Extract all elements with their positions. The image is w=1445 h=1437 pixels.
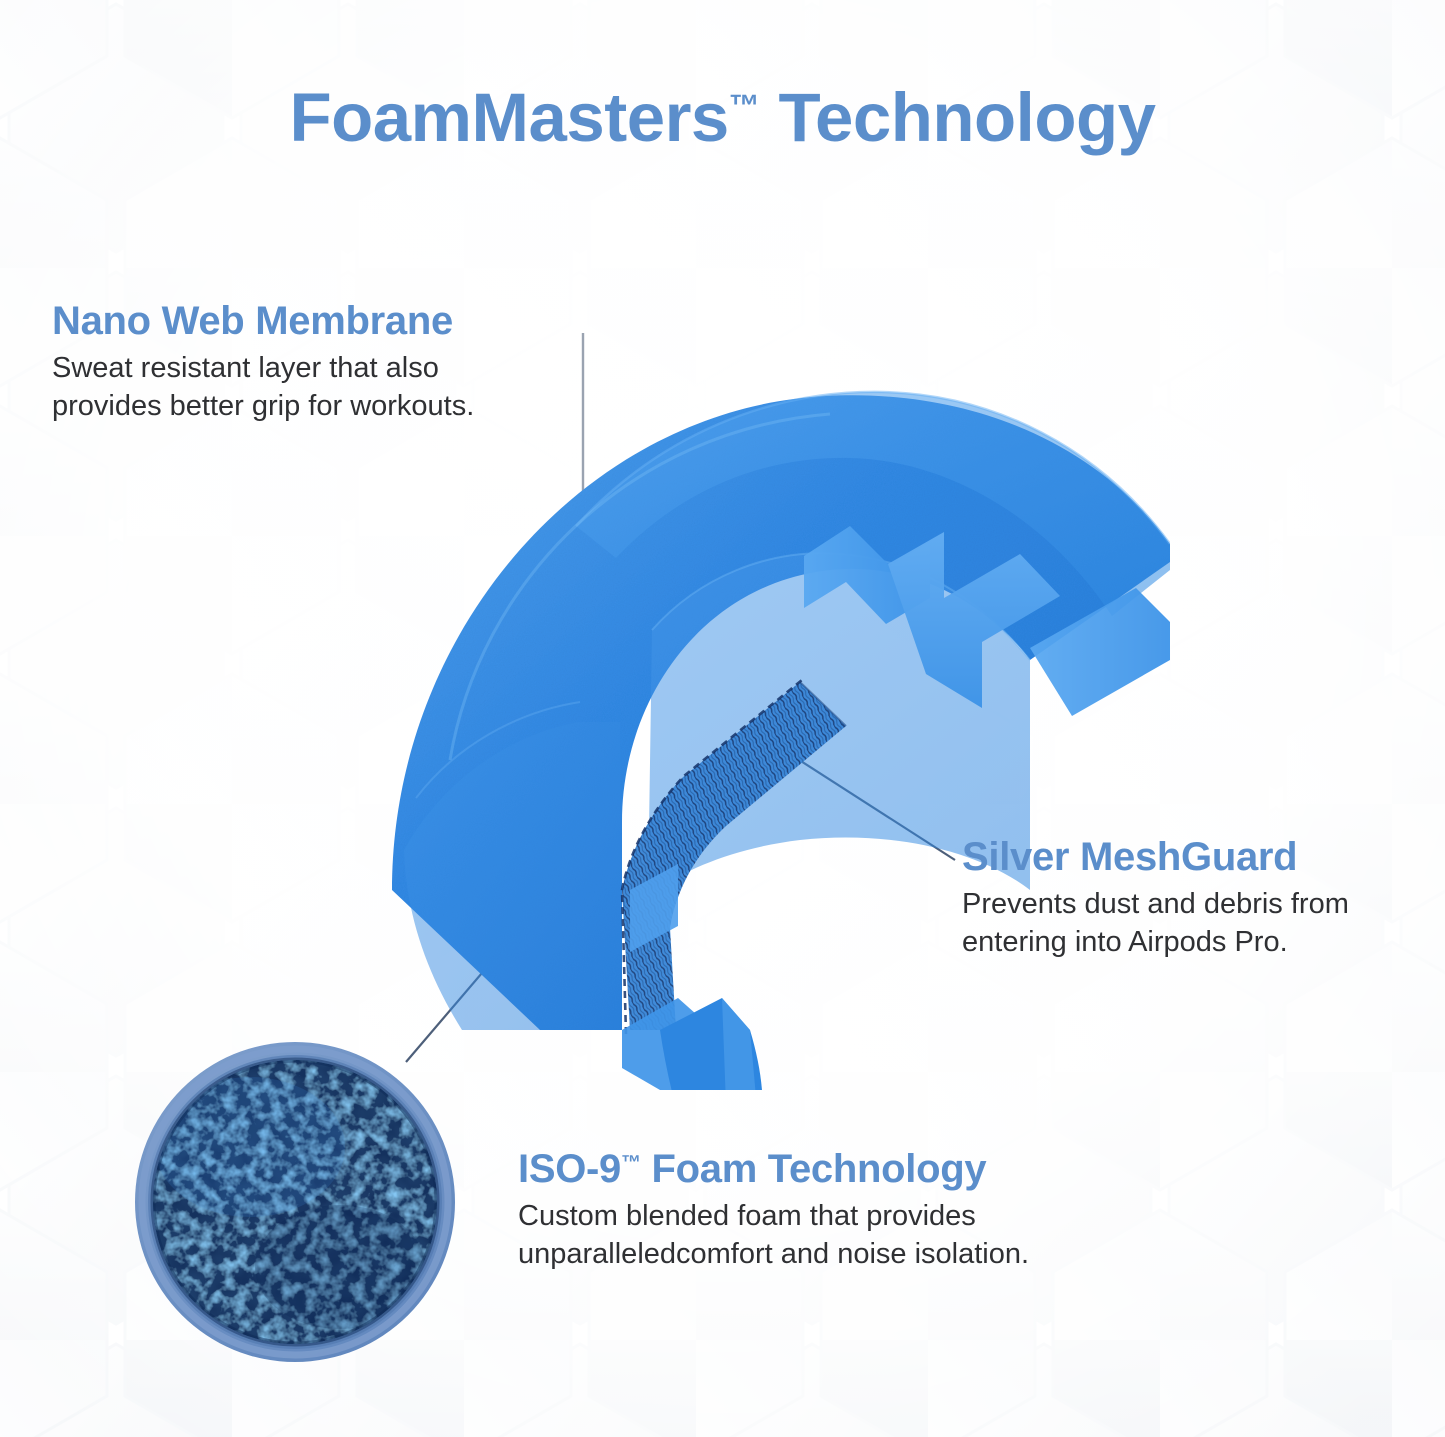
trademark-symbol: ™	[729, 88, 760, 123]
page-title: FoamMasters™ Technology	[0, 78, 1445, 157]
callout-body-line-1: Prevents dust and debris from	[962, 886, 1349, 924]
foam-structure-detail	[130, 1037, 460, 1367]
callout-heading-pre: ISO-9	[518, 1147, 621, 1191]
callout-body-line-1: Custom blended foam that provides	[518, 1198, 1029, 1236]
callout-silver-meshguard: Silver MeshGuard Prevents dust and debri…	[962, 836, 1349, 962]
trademark-symbol: ™	[621, 1152, 641, 1174]
callout-heading-post: Foam Technology	[641, 1147, 987, 1191]
infographic-canvas: FoamMasters™ Technology	[0, 0, 1445, 1437]
callout-iso9-foam-technology: ISO-9™ Foam Technology Custom blended fo…	[518, 1148, 1029, 1274]
callout-body-iso9-foam-technology: Custom blended foam that provides unpara…	[518, 1198, 1029, 1273]
callout-heading-nano-web-membrane: Nano Web Membrane	[52, 300, 474, 342]
callout-heading-iso9-foam-technology: ISO-9™ Foam Technology	[518, 1148, 1029, 1190]
callout-body-line-1: Sweat resistant layer that also	[52, 350, 474, 388]
callout-body-nano-web-membrane: Sweat resistant layer that also provides…	[52, 350, 474, 425]
callout-body-line-2: entering into Airpods Pro.	[962, 924, 1349, 962]
product-illustration	[330, 330, 1170, 1090]
callout-body-silver-meshguard: Prevents dust and debris from entering i…	[962, 886, 1349, 961]
page-title-tail: Technology	[760, 79, 1156, 156]
callout-nano-web-membrane: Nano Web Membrane Sweat resistant layer …	[52, 300, 474, 426]
page-title-main: FoamMasters	[289, 79, 728, 156]
callout-body-line-2: provides better grip for workouts.	[52, 388, 474, 426]
callout-heading-silver-meshguard: Silver MeshGuard	[962, 836, 1349, 878]
callout-body-line-2: unparalleledcomfort and noise isolation.	[518, 1236, 1029, 1274]
